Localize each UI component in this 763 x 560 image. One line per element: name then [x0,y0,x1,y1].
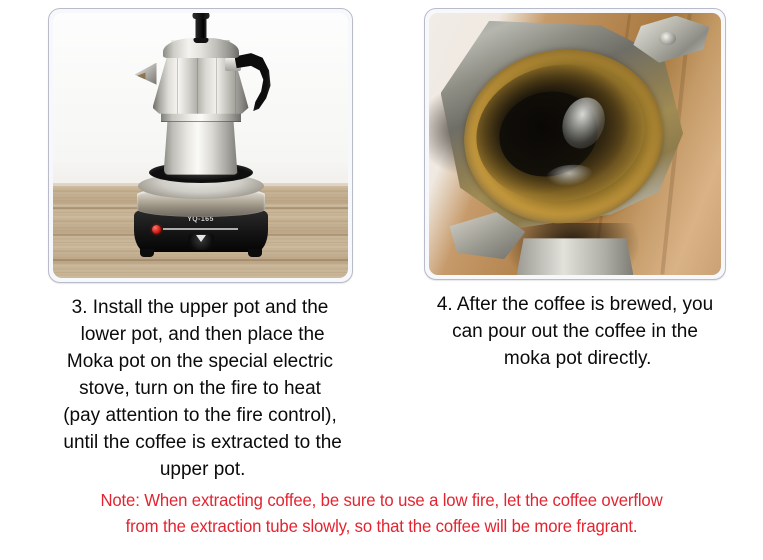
stove-control-knob[interactable] [188,234,214,250]
instruction-page: YQ-165 [0,0,763,560]
warning-note: Note: When extracting coffee, be sure to… [0,487,763,540]
caption-line: (pay attention to the fire control), [24,403,376,430]
caption-line: can pour out the coffee in the [399,319,751,346]
step-4-column: 4. After the coffee is brewed, you can p… [395,0,755,373]
brew-scene [429,13,721,275]
moka-pot-spout [135,63,157,85]
stove-model-label: YQ-165 [134,216,268,223]
power-indicator-light [152,225,161,234]
caption-line: 3. Install the upper pot and the [24,295,376,322]
caption-line: upper pot. [24,457,376,484]
caption-line: 4. After the coffee is brewed, you [399,292,751,319]
stove-foot-left [140,249,154,257]
moka-pot-lid-knob[interactable] [195,16,206,41]
note-line: Note: When extracting coffee, be sure to… [17,487,746,513]
stove-scene: YQ-165 [53,13,348,278]
step-3-column: YQ-165 [20,0,380,484]
note-line: from the extraction tube slowly, so that… [17,513,746,539]
caption-line: until the coffee is extracted to the [24,430,376,457]
step-4-photo-frame [424,8,726,280]
stove-foot-right [248,249,262,257]
caption-line: stove, turn on the fire to heat [24,376,376,403]
step-3-photo-frame: YQ-165 [48,8,353,283]
caption-line: Moka pot on the special electric [24,349,376,376]
step-3-caption: 3. Install the upper pot and the lower p… [20,295,380,484]
moka-pot-lower-chamber [164,115,238,175]
moka-pot-on-electric-stove-photo: YQ-165 [53,13,348,278]
moka-pot-lower-body [517,238,634,275]
caption-line: lower pot, and then place the [24,322,376,349]
caption-line: moka pot directly. [399,346,751,373]
brewed-coffee-in-moka-pot-photo [429,13,721,275]
step-4-caption: 4. After the coffee is brewed, you can p… [395,292,755,373]
steps-grid: YQ-165 [0,0,763,480]
moka-pot-handle[interactable] [235,53,271,111]
